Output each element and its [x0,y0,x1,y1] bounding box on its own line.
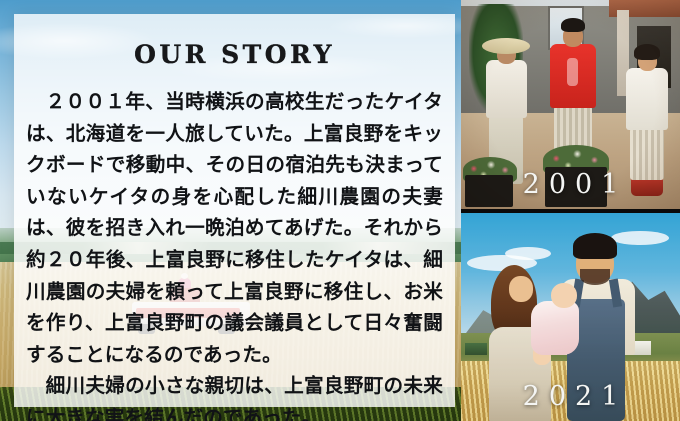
story-body: ２００１年、当時横浜の高校生だったケイタは、北海道を一人旅していた。上富良野をキ… [23,86,446,421]
story-slide: OUR STORY ２００１年、当時横浜の高校生だったケイタは、北海道を一人旅し… [0,0,680,421]
photo-2001: 2001 [461,0,680,209]
story-paragraph-1: ２００１年、当時横浜の高校生だったケイタは、北海道を一人旅していた。上富良野をキ… [26,86,443,370]
photo-2021: 2021 [461,213,680,421]
story-panel: OUR STORY ２００１年、当時横浜の高校生だったケイタは、北海道を一人旅し… [14,14,455,407]
page-title: OUR STORY [23,40,446,69]
story-paragraph-2: 細川夫婦の小さな親切は、上富良野町の未来に大きな実を結んだのであった。 [26,370,443,421]
year-label-2021: 2021 [461,381,680,412]
year-label-2001: 2001 [461,169,680,200]
